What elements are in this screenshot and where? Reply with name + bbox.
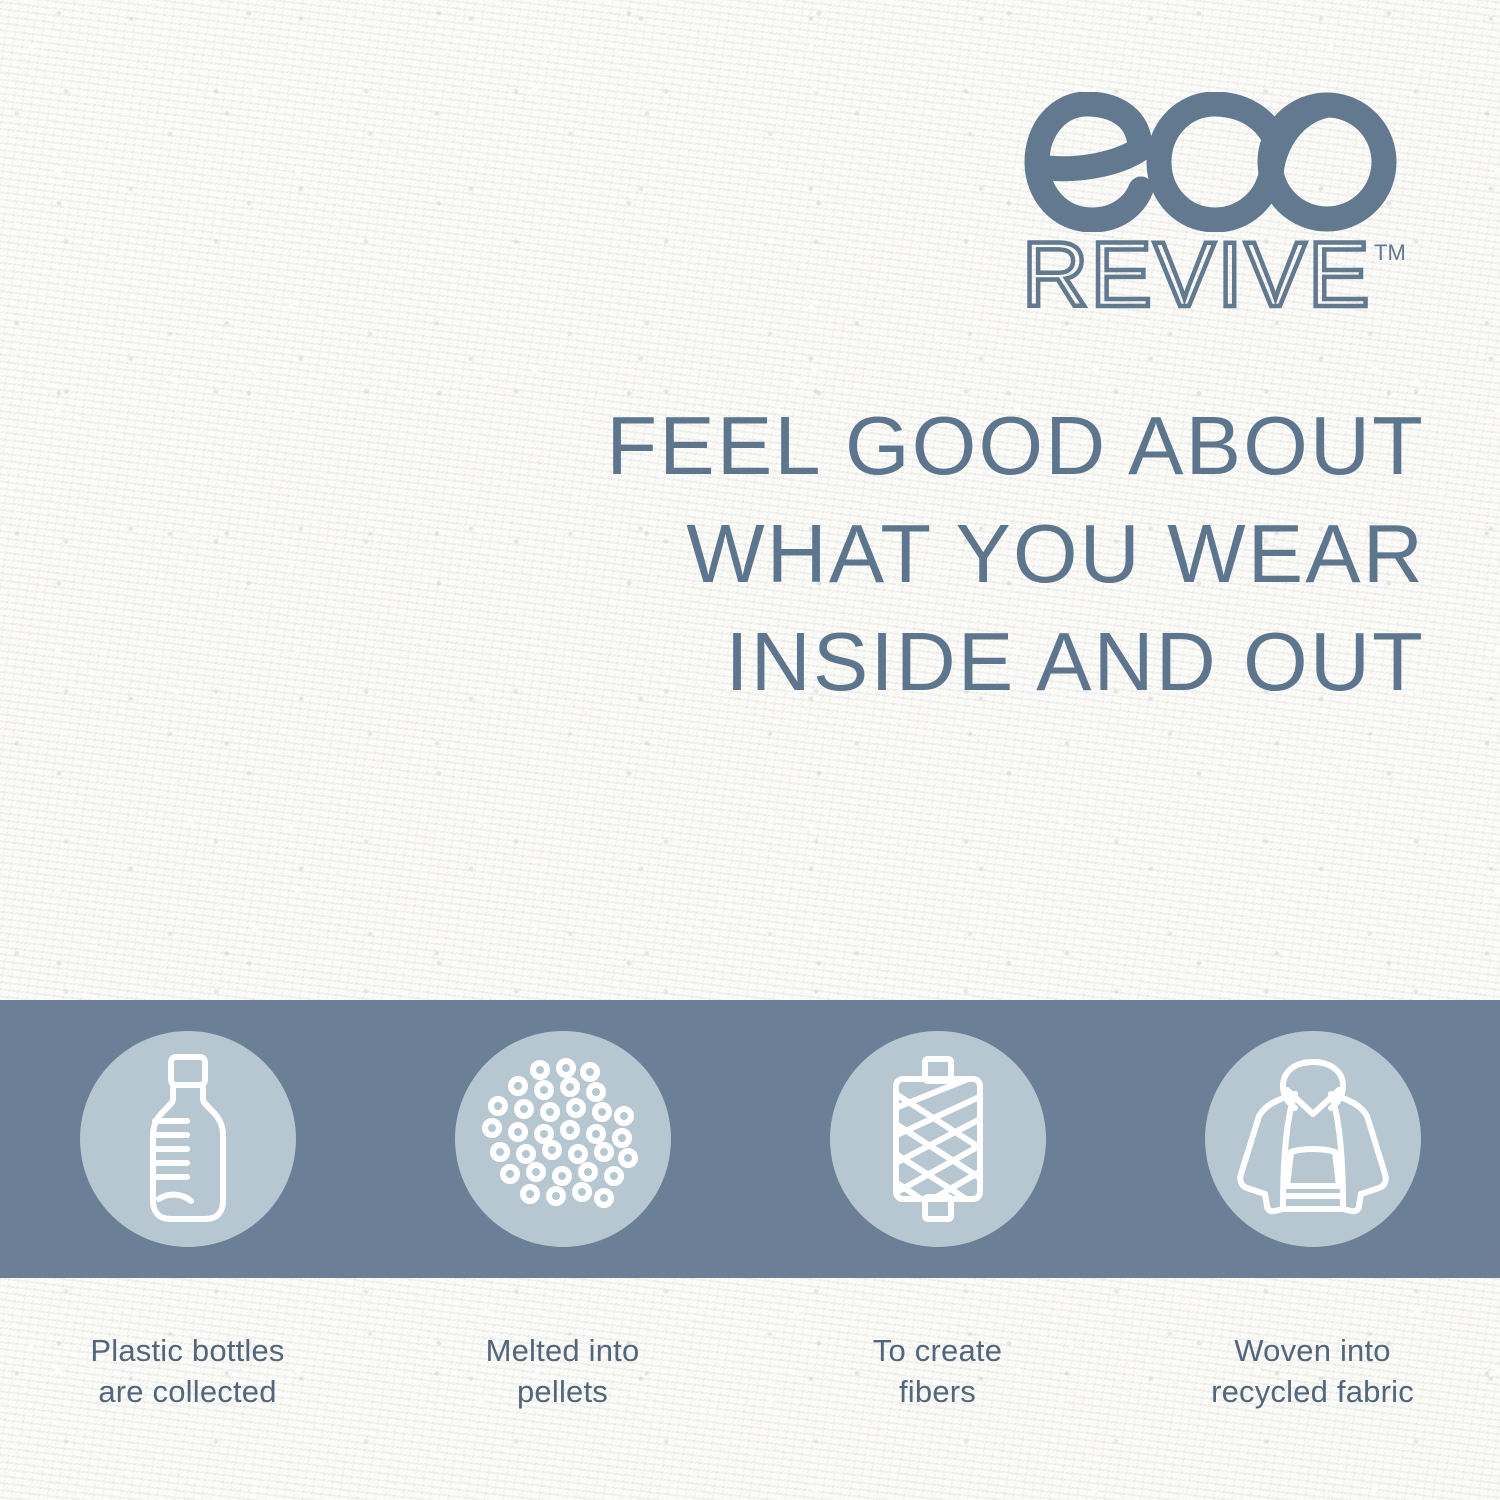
caption-step-2-line-1: Melted into [375, 1330, 750, 1371]
headline-line-3: INSIDE AND OUT [0, 608, 1425, 716]
caption-step-4: Woven into recycled fabric [1125, 1330, 1500, 1412]
step-3-icon-cell [750, 1000, 1125, 1278]
trademark-symbol: TM [1374, 240, 1406, 265]
step-4-icon-cell [1125, 1000, 1500, 1278]
step-2-icon-circle [455, 1031, 671, 1247]
brand-logo: REVIVE TM [992, 92, 1422, 320]
pellets-icon [478, 1054, 648, 1224]
step-1-icon-circle [80, 1031, 296, 1247]
revive-wordmark-text: REVIVE [1022, 234, 1371, 320]
caption-step-4-line-1: Woven into [1125, 1330, 1500, 1371]
caption-step-1-line-1: Plastic bottles [0, 1330, 375, 1371]
thread-spool-icon [863, 1049, 1013, 1229]
caption-step-1-line-2: are collected [0, 1371, 375, 1412]
caption-step-3-line-1: To create [750, 1330, 1125, 1371]
revive-wordmark: REVIVE TM [1022, 234, 1422, 320]
hoodie-icon [1225, 1056, 1401, 1222]
headline-line-2: WHAT YOU WEAR [0, 500, 1425, 608]
headline-line-1: FEEL GOOD ABOUT [0, 392, 1425, 500]
caption-step-2: Melted into pellets [375, 1330, 750, 1412]
process-captions: Plastic bottles are collected Melted int… [0, 1330, 1500, 1412]
step-4-icon-circle [1205, 1031, 1421, 1247]
step-2-icon-cell [375, 1000, 750, 1278]
caption-step-1: Plastic bottles are collected [0, 1330, 375, 1412]
caption-step-4-line-2: recycled fabric [1125, 1371, 1500, 1412]
plastic-bottle-icon [113, 1049, 263, 1229]
step-1-icon-cell [0, 1000, 375, 1278]
caption-step-2-line-2: pellets [375, 1371, 750, 1412]
eco-logo-mark [1022, 92, 1422, 232]
caption-step-3-line-2: fibers [750, 1371, 1125, 1412]
eco-revive-poster: REVIVE TM FEEL GOOD ABOUT WHAT YOU WEAR … [0, 0, 1500, 1500]
step-3-icon-circle [830, 1031, 1046, 1247]
caption-step-3: To create fibers [750, 1330, 1125, 1412]
process-icon-band [0, 1000, 1500, 1278]
headline: FEEL GOOD ABOUT WHAT YOU WEAR INSIDE AND… [0, 392, 1425, 716]
